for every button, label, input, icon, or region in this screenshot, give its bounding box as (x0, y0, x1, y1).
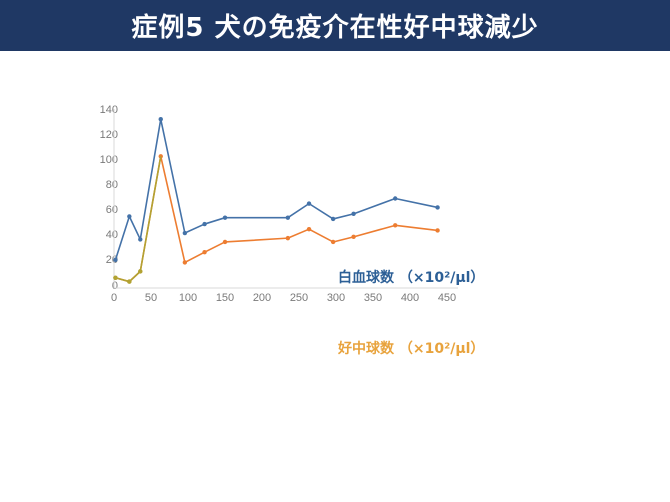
treatment-timeline: 病日 プレドニゾロン 0.5mg/kg SID 0.25mg/kg SID 0.… (0, 315, 670, 502)
title-band: 症例5 犬の免疫介在性好中球減少 (0, 0, 670, 51)
chart-container: 140 120 100 80 60 40 20 0 0 50 100 150 2… (0, 95, 670, 310)
page-title: 症例5 犬の免疫介在性好中球減少 (0, 0, 670, 51)
slide-canvas: 症例5 犬の免疫介在性好中球減少 140 120 100 80 60 40 20… (0, 0, 670, 502)
series-label-wbc-text: 白血球数 （×10²/μl） (338, 270, 484, 286)
plot-area (0, 95, 670, 310)
series-label-wbc: 白血球数 （×10²/μl） (338, 267, 484, 287)
